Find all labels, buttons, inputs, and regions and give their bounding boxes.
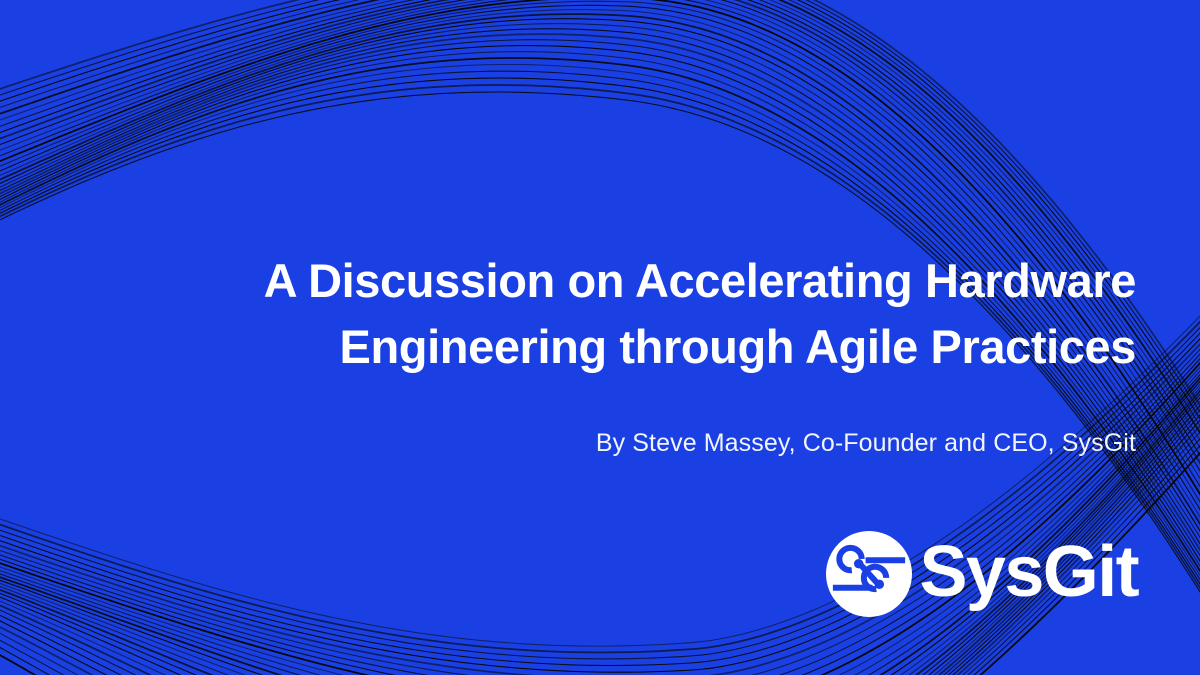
title-line-1: A Discussion on Accelerating Hardware	[136, 248, 1136, 314]
slide-content: A Discussion on Accelerating Hardware En…	[0, 0, 1200, 675]
subtitle-byline: By Steve Massey, Co-Founder and CEO, Sys…	[136, 426, 1136, 460]
page-title: A Discussion on Accelerating Hardware En…	[136, 248, 1136, 380]
title-slide: A Discussion on Accelerating Hardware En…	[0, 0, 1200, 675]
sysgit-wordmark: SysGit	[920, 536, 1139, 608]
sysgit-logo-lockup: SysGit	[826, 531, 1139, 617]
title-line-2: Engineering through Agile Practices	[136, 314, 1136, 380]
sysgit-circuit-s-icon	[826, 531, 912, 617]
